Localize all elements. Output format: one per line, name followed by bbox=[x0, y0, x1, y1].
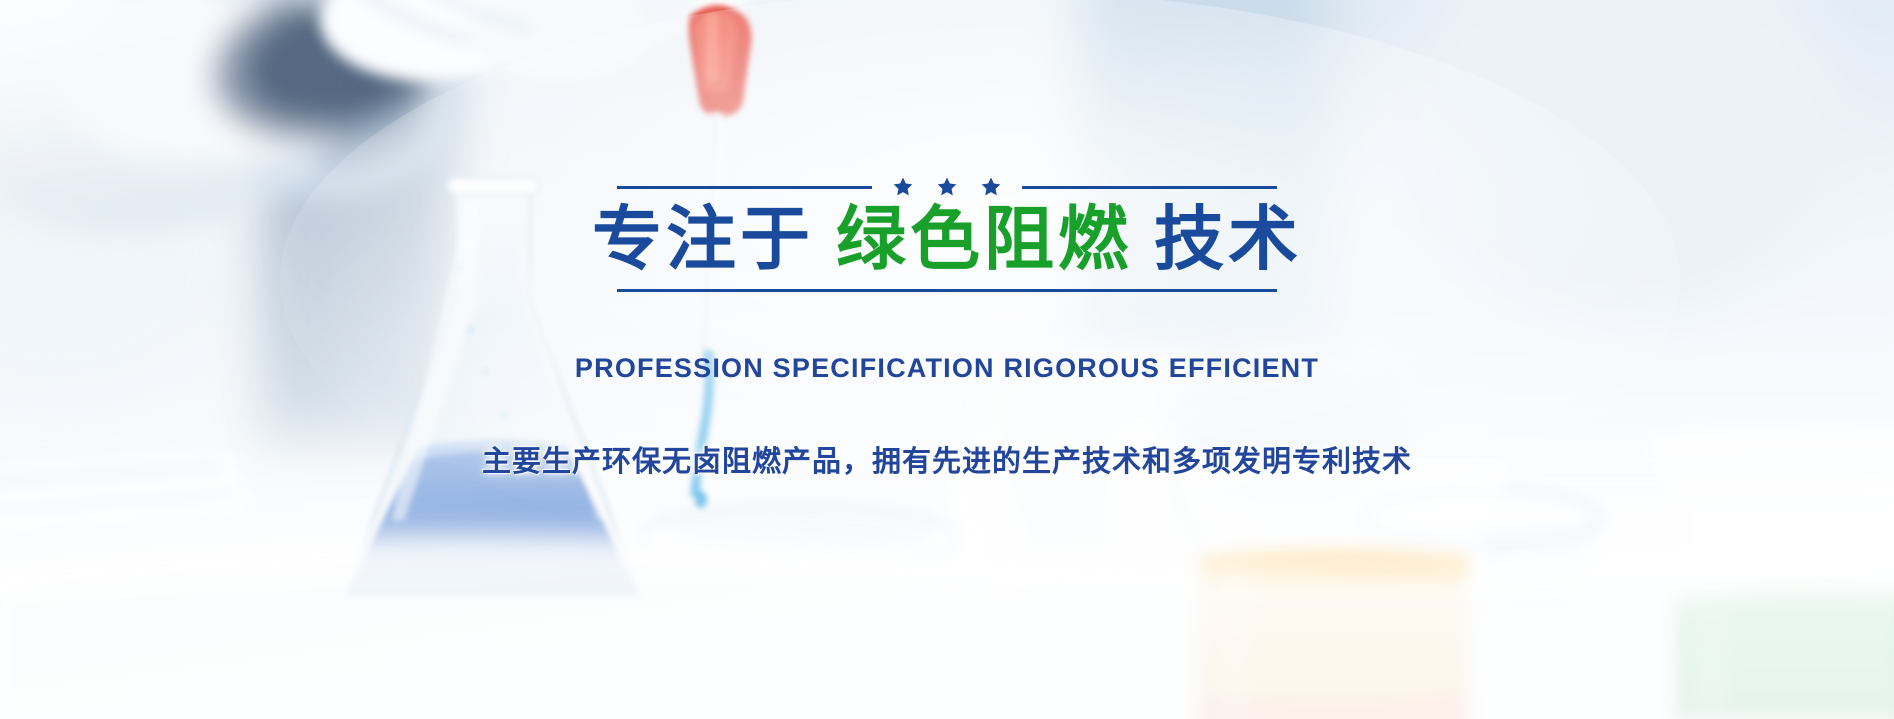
star-icon bbox=[936, 176, 958, 198]
headline-part-3: 技术 bbox=[1154, 200, 1302, 278]
star-icon bbox=[892, 176, 914, 198]
divider-left bbox=[617, 186, 872, 189]
divider-right bbox=[1022, 186, 1277, 189]
star-icon bbox=[980, 176, 1002, 198]
banner-content: 专注于绿色阻燃技术 PROFESSION SPECIFICATION RIGOR… bbox=[0, 0, 1894, 719]
star-group bbox=[872, 176, 1022, 198]
headline-part-1: 专注于 bbox=[592, 200, 814, 278]
description-text: 主要生产环保无卤阻燃产品，拥有先进的生产技术和多项发明专利技术 bbox=[482, 438, 1412, 480]
page-title: 专注于绿色阻燃技术 bbox=[592, 196, 1302, 282]
hero-banner: 专注于绿色阻燃技术 PROFESSION SPECIFICATION RIGOR… bbox=[0, 0, 1894, 719]
headline-underline bbox=[617, 289, 1277, 292]
headline-part-2: 绿色阻燃 bbox=[836, 200, 1132, 278]
subtitle: PROFESSION SPECIFICATION RIGOROUS EFFICI… bbox=[575, 353, 1319, 384]
star-divider bbox=[617, 176, 1277, 198]
